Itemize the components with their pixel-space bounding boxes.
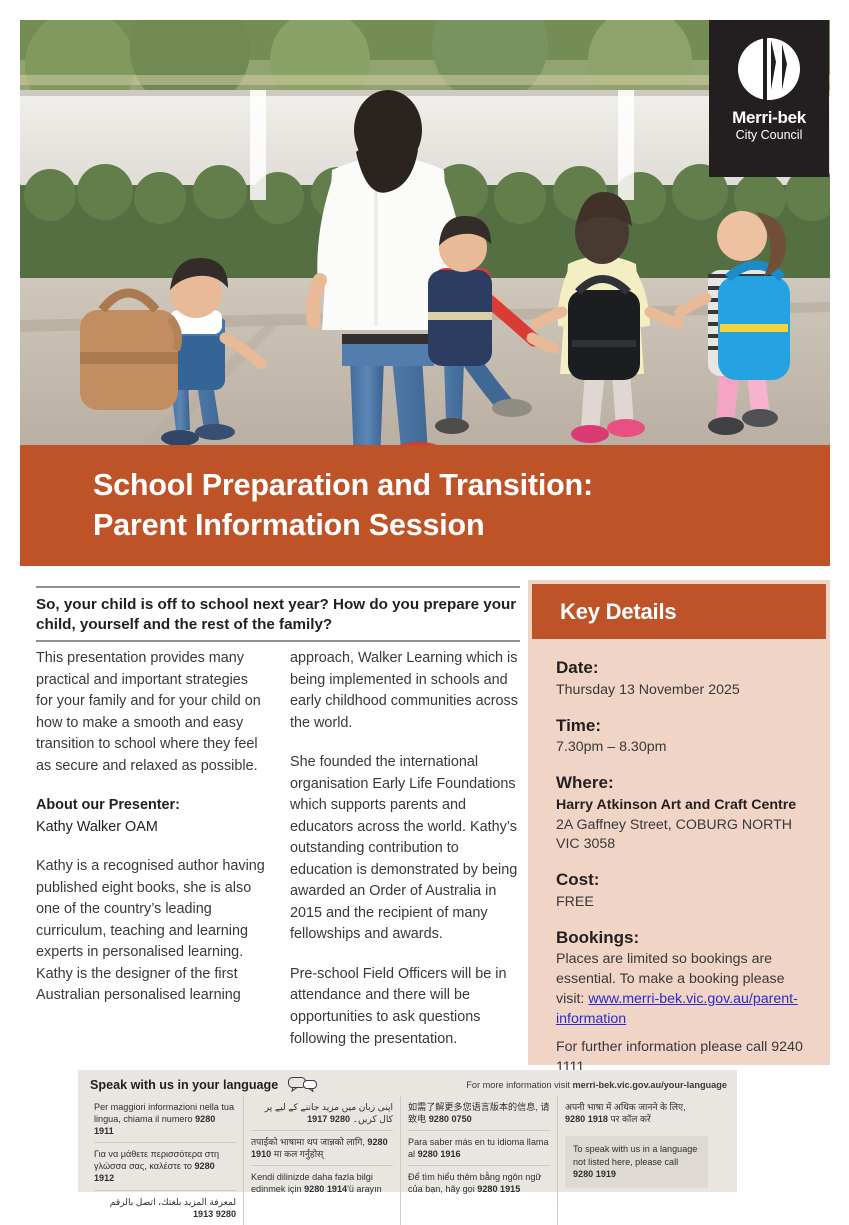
cost-value: FREE [556, 893, 813, 913]
time-label: Time: [556, 714, 813, 739]
language-text: तपाईको भाषामा थप जान्नको लागि, [251, 1137, 367, 1147]
language-item: Để tìm hiểu thêm bằng ngôn ngữ của bạn, … [408, 1166, 550, 1200]
language-item: Kendi dilinizde daha fazla bilgi edinmek… [251, 1166, 393, 1200]
language-item: Για να μάθετε περισσότερα στη γλώσσα σας… [94, 1143, 236, 1190]
where-address: 2A Gaffney Street, COBURG NORTH VIC 3058 [556, 816, 813, 856]
presenter-label: About our Presenter: [36, 795, 266, 817]
language-column-4: अपनी भाषा में अधिक जानने के लिए, 9280 19… [558, 1096, 715, 1225]
merri-bek-m-icon [738, 38, 800, 100]
language-text-suffix: पर कॉल करें [608, 1114, 651, 1124]
language-footer-header: Speak with us in your language For more … [78, 1070, 737, 1096]
language-item: 如需了解更多您语言版本的信息, 请致电 9280 0750 [408, 1096, 550, 1131]
language-column-3: 如需了解更多您语言版本的信息, 请致电 9280 0750 Para saber… [401, 1096, 558, 1225]
language-phone: 9280 1919 [573, 1169, 616, 1179]
language-phone: 9280 1914 [304, 1184, 347, 1194]
date-label: Date: [556, 656, 813, 681]
title-banner: School Preparation and Transition: Paren… [20, 445, 830, 566]
language-column-2: اپنی زبان میں مزید جاننے کے لیے پر کال ک… [244, 1096, 401, 1225]
language-footer: Speak with us in your language For more … [78, 1070, 737, 1192]
logo-subtitle: City Council [736, 129, 803, 142]
page-title-line-2: Parent Information Session [93, 508, 484, 542]
body-columns: This presentation provides many practica… [36, 648, 520, 1073]
presenter-name: Kathy Walker OAM [36, 817, 266, 839]
left-paragraph-1: This presentation provides many practica… [36, 648, 266, 777]
language-more-info: For more information visit merri-bek.vic… [466, 1080, 727, 1090]
language-item: Para saber más en tu idioma llama al 928… [408, 1131, 550, 1166]
speech-bubbles-glyph [288, 1077, 318, 1092]
language-text: لمعرفة المزيد بلغتك، اتصل بالرقم [110, 1197, 236, 1207]
language-more-info-prefix: For more information visit [466, 1080, 572, 1090]
cost-label: Cost: [556, 868, 813, 893]
key-details-header: Key Details [532, 584, 826, 639]
language-text-suffix: 'ü arayın [347, 1184, 382, 1194]
key-details-heading: Key Details [560, 599, 676, 625]
language-text-suffix: मा कल गर्नुहोस् [271, 1149, 323, 1159]
bookings-text: Places are limited so bookings are essen… [556, 950, 813, 1030]
language-phone: 9280 1917 [307, 1114, 350, 1124]
language-item: Per maggiori informazioni nella tua ling… [94, 1096, 236, 1143]
language-phone: 9280 1915 [477, 1184, 520, 1194]
language-phone: 9280 1916 [418, 1149, 461, 1159]
body-column-right: approach, Walker Learning which is being… [290, 648, 520, 1073]
speech-bubbles-icon [288, 1077, 318, 1092]
language-column-1: Per maggiori informazioni nella tua ling… [87, 1096, 244, 1225]
body-column-left: This presentation provides many practica… [36, 648, 266, 1073]
lead-heading-block: So, your child is off to school next yea… [36, 586, 520, 642]
flyer-page: Merri-bek City Council School Preparatio… [0, 0, 849, 1200]
where-venue: Harry Atkinson Art and Craft Centre [556, 796, 813, 816]
language-columns: Per maggiori informazioni nella tua ling… [78, 1096, 737, 1225]
language-item: لمعرفة المزيد بلغتك، اتصل بالرقم 9280 19… [94, 1191, 236, 1225]
page-title-line-1: School Preparation and Transition: [93, 468, 593, 502]
language-item: तपाईको भाषामा थप जान्नको लागि, 9280 1910… [251, 1131, 393, 1166]
language-phone: 9280 0750 [429, 1114, 472, 1124]
language-item: اپنی زبان میں مزید جاننے کے لیے پر کال ک… [251, 1096, 393, 1131]
right-paragraph-2: She founded the international organisati… [290, 752, 520, 946]
lead-rule-bottom [36, 640, 520, 642]
language-not-listed-box: To speak with us in a language not liste… [565, 1136, 708, 1188]
time-value: 7.30pm – 8.30pm [556, 738, 813, 758]
where-label: Where: [556, 771, 813, 796]
language-item: अपनी भाषा में अधिक जानने के लिए, 9280 19… [565, 1096, 708, 1130]
logo-circle-m-icon [738, 38, 800, 100]
language-text: Để tìm hiểu thêm bằng ngôn ngữ của bạn, … [408, 1172, 542, 1194]
right-paragraph-1: approach, Walker Learning which is being… [290, 648, 520, 734]
language-footer-title: Speak with us in your language [90, 1078, 278, 1092]
page-title: School Preparation and Transition: Paren… [93, 466, 810, 545]
language-phone: 9280 1913 [193, 1209, 236, 1219]
language-text: अपनी भाषा में अधिक जानने के लिए, [565, 1102, 686, 1112]
right-paragraph-3: Pre-school Field Officers will be in att… [290, 964, 520, 1050]
date-value: Thursday 13 November 2025 [556, 681, 813, 701]
bookings-link[interactable]: www.merri-bek.vic.gov.au/parent-informat… [556, 991, 798, 1027]
key-details-body: Date: Thursday 13 November 2025 Time: 7.… [528, 639, 830, 1078]
language-text: To speak with us in a language not liste… [573, 1144, 697, 1167]
language-more-info-url: merri-bek.vic.gov.au/your-language [572, 1080, 727, 1090]
left-paragraph-2: Kathy is a recognised author having publ… [36, 856, 266, 1007]
bookings-label: Bookings: [556, 926, 813, 951]
logo-name: Merri-bek [732, 109, 806, 126]
language-phone: 9280 1918 [565, 1114, 608, 1124]
merri-bek-logo: Merri-bek City Council [709, 20, 829, 177]
key-details-panel: Key Details Date: Thursday 13 November 2… [528, 580, 830, 1065]
lead-heading: So, your child is off to school next yea… [36, 588, 520, 640]
